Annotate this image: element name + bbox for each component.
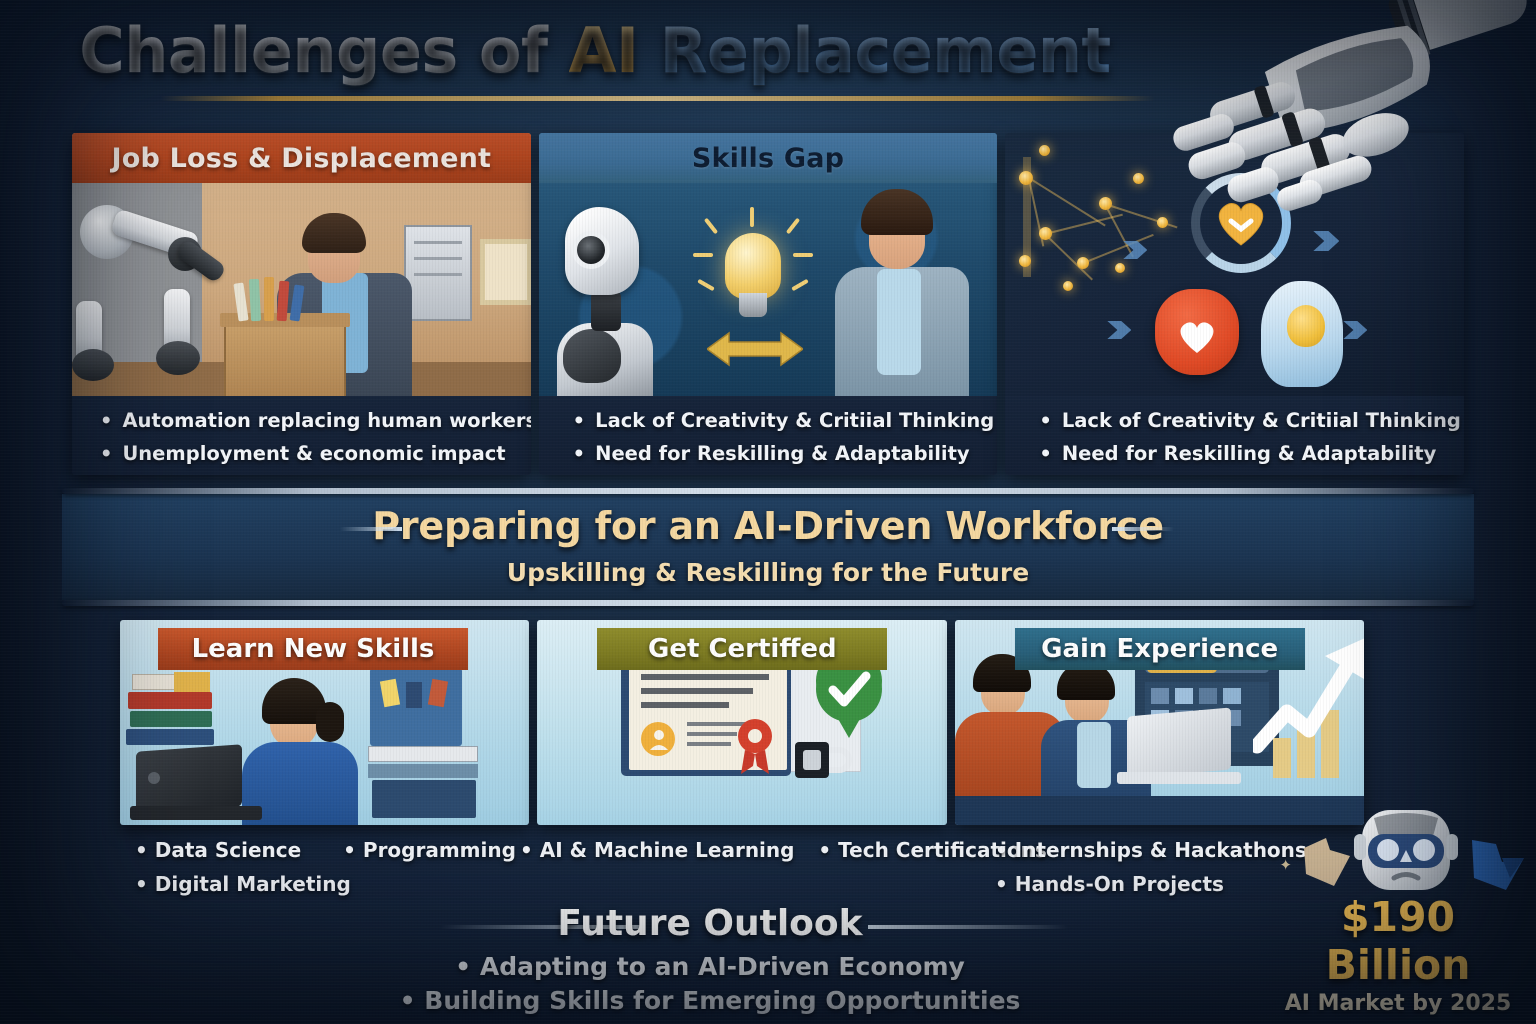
list-item: • Hands-On Projects (995, 867, 1307, 901)
page-title: Challenges of AI Replacement (0, 14, 1190, 87)
award-seal-icon (733, 718, 777, 774)
job-loss-bullets: •Automation replacing human workers •Une… (72, 396, 531, 475)
stat-badge: $190 Billion AI Market by 2025 (1276, 893, 1520, 1016)
lightbulb-icon (725, 233, 781, 299)
future-outlook-bullet-2: • Building Skills for Emerging Opportuni… (0, 986, 1420, 1015)
list-item: • Internships & Hackathons (995, 833, 1307, 867)
list-item: • AI & Machine Learning • Tech Certifica… (520, 833, 1047, 867)
challenge-card-job-loss[interactable]: Job Loss & Displacement •Automation repl… (72, 133, 531, 475)
section-title-preparing: Preparing for an AI-Driven Workforce (0, 504, 1536, 548)
divider-top (62, 488, 1474, 494)
job-loss-illustration: Job Loss & Displacement (72, 133, 531, 396)
prep-card-gain-experience[interactable]: Gain Experience (955, 620, 1364, 825)
adaptability-bullets: •Lack of Creativity & Critiial Thinking … (1005, 396, 1464, 475)
prep-card-get-certified[interactable]: Get Certiffed (537, 620, 946, 825)
skills-gap-bullets: •Lack of Creativity & Critiial Thinking … (539, 396, 998, 475)
section-subtitle-upskilling: Upskilling & Reskilling for the Future (0, 558, 1536, 587)
list-item: • Data Science • Programming (135, 833, 516, 867)
future-outlook-bullet-1: • Adapting to an AI-Driven Economy (0, 952, 1420, 981)
card-banner-gain-experience: Gain Experience (1015, 628, 1305, 670)
list-item: •Lack of Creativity & Critiial Thinking (1039, 404, 1464, 437)
robot-hand-icon (1162, 0, 1536, 242)
arrow-blue-icon (1466, 836, 1528, 892)
list-item: •Lack of Creativity & Critiial Thinking (573, 404, 998, 437)
stat-label: AI Market by 2025 (1276, 991, 1520, 1016)
sparkle-icon: ✦ (1279, 856, 1292, 874)
robot-head-icon (1354, 804, 1458, 896)
card-banner-skills-gap: Skills Gap (539, 133, 998, 183)
card-banner-get-certified: Get Certiffed (597, 628, 887, 670)
card-banner-learn-new-skills: Learn New Skills (158, 628, 468, 670)
list-item: •Automation replacing human workers (100, 404, 531, 437)
prep-card-learn-new-skills[interactable]: Learn New Skills (120, 620, 529, 825)
preparation-card-group: Learn New Skills (120, 620, 1364, 825)
get-certified-bullets: • AI & Machine Learning • Tech Certifica… (520, 833, 1047, 867)
title-part-2: Replacement (639, 14, 1111, 87)
idea-bulb-icon (1287, 305, 1325, 347)
lock-icon (795, 742, 855, 778)
learn-new-skills-bullets: • Data Science • Programming • Digital M… (135, 833, 516, 901)
mid-rule-right (1112, 527, 1174, 531)
title-part-1: Challenges of (79, 14, 568, 87)
title-underline-rule (160, 96, 1155, 101)
mid-rule-left (340, 527, 402, 531)
challenge-card-skills-gap[interactable]: Skills Gap •Lack of Creativity & Critiia… (539, 133, 998, 475)
list-item: •Need for Reskilling & Adaptability (573, 437, 998, 470)
title-ai-highlight: AI (569, 14, 639, 87)
list-item: •Need for Reskilling & Adaptability (1039, 437, 1464, 470)
gain-experience-bullets: • Internships & Hackathons • Hands-On Pr… (995, 833, 1307, 901)
stat-value: $190 Billion (1276, 893, 1520, 989)
bidirectional-arrow-icon (707, 329, 803, 369)
arrow-tan-icon (1300, 836, 1354, 888)
section-title-future-outlook: Future Outlook (0, 903, 1420, 944)
divider-bottom (62, 600, 1474, 606)
skills-gap-illustration: Skills Gap (539, 133, 998, 396)
notification-heart-badge (1155, 289, 1239, 375)
list-item: •Unemployment & economic impact (100, 437, 531, 470)
list-item: • Digital Marketing (135, 867, 516, 901)
card-banner-job-loss: Job Loss & Displacement (72, 133, 531, 183)
